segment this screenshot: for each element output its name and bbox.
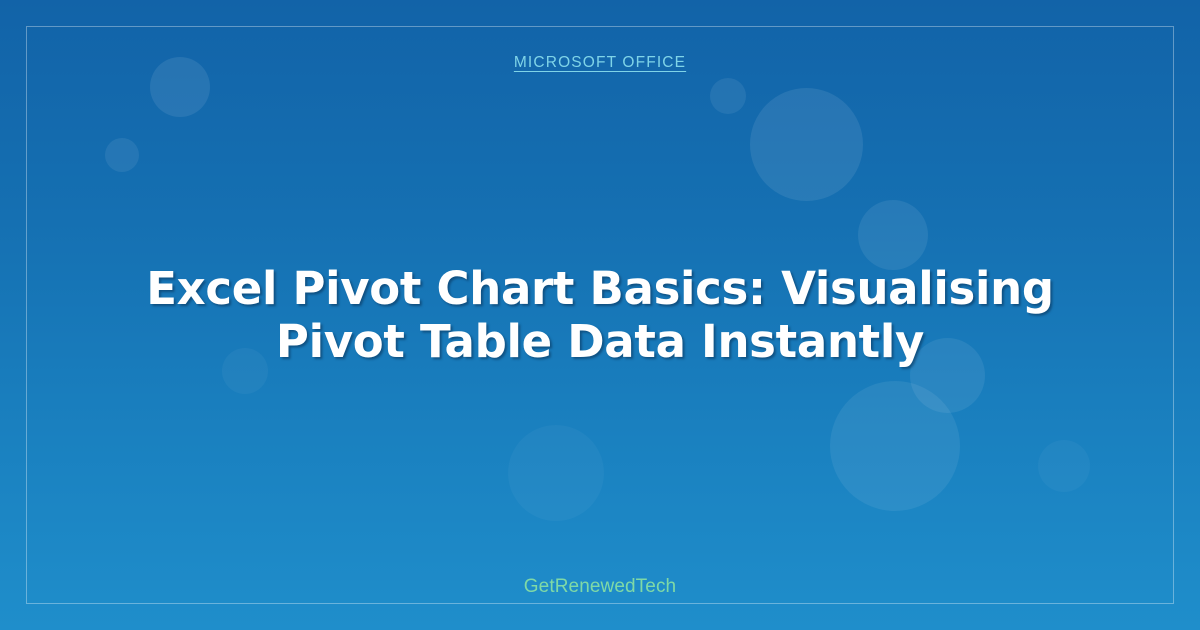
social-share-card: MICROSOFT OFFICE Excel Pivot Chart Basic… — [0, 0, 1200, 630]
page-title: Excel Pivot Chart Basics: Visualising Pi… — [80, 262, 1120, 368]
site-name-label: GetRenewedTech — [0, 576, 1200, 598]
category-label[interactable]: MICROSOFT OFFICE — [0, 54, 1200, 72]
card-content: MICROSOFT OFFICE Excel Pivot Chart Basic… — [0, 0, 1200, 630]
